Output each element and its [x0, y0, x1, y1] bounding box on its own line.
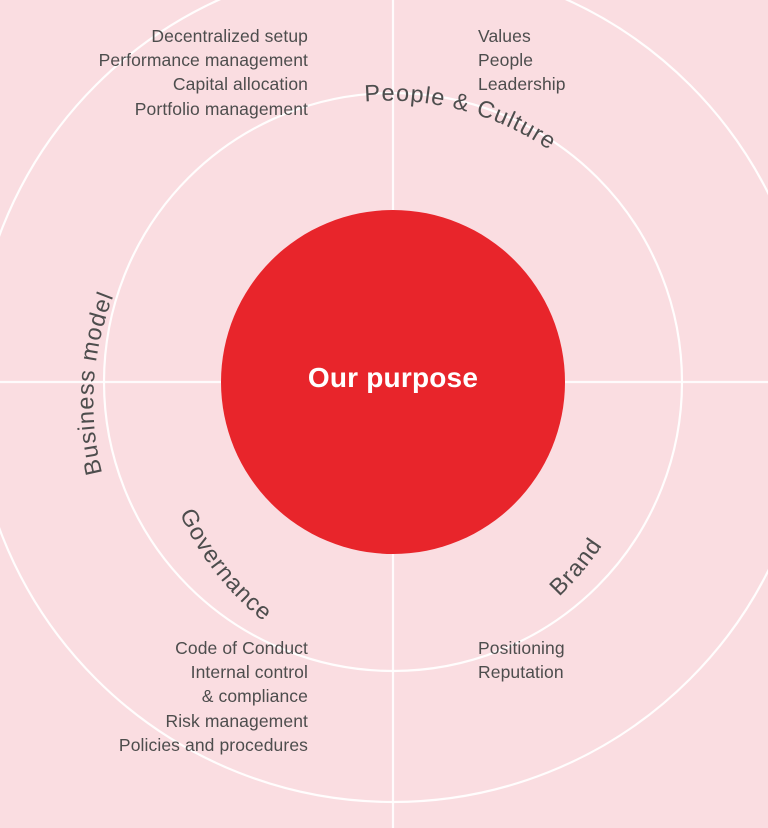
ring-label-governance: Governance — [175, 504, 278, 626]
detail-list-brand: Positioning Reputation — [478, 636, 738, 684]
ring-label-brand: Brand — [544, 533, 607, 601]
core-purpose-label: Our purpose — [221, 362, 565, 394]
detail-list-business-model: Decentralized setup Performance manageme… — [0, 24, 308, 121]
detail-list-governance: Code of Conduct Internal control & compl… — [0, 636, 308, 757]
purpose-wheel-diagram: Business model People & Culture Governan… — [0, 0, 768, 828]
detail-list-people-culture: Values People Leadership — [478, 24, 738, 97]
